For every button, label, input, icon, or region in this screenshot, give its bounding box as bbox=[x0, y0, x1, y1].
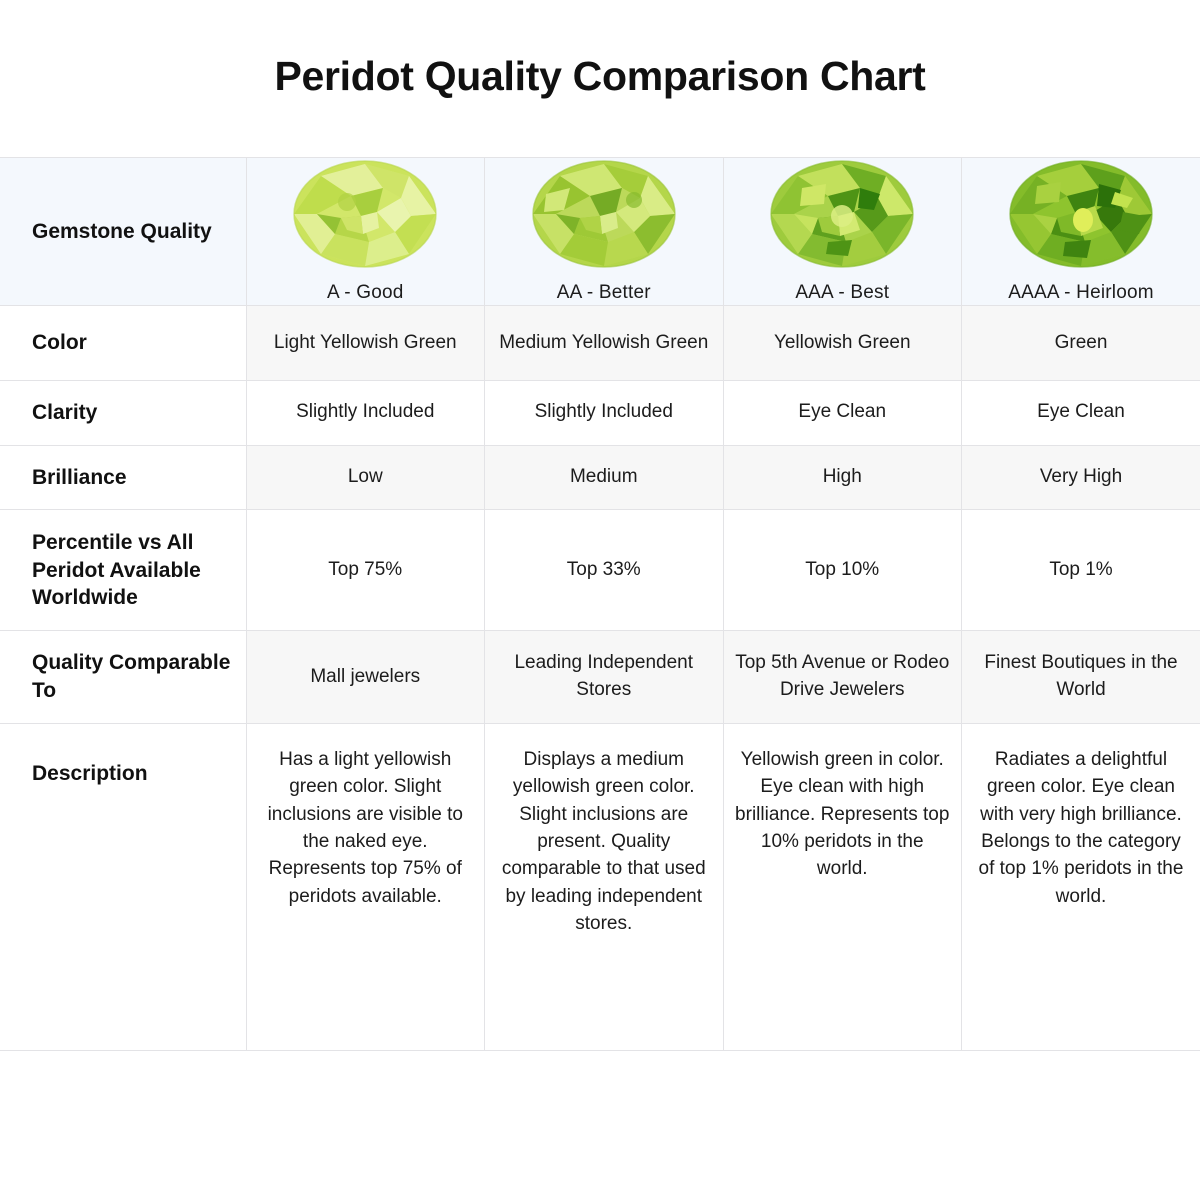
table-row: Color Light Yellowish Green Medium Yello… bbox=[0, 305, 1200, 380]
cell-comparable-2: Leading Independent Stores bbox=[485, 631, 724, 723]
cell-clarity-4: Eye Clean bbox=[962, 380, 1200, 445]
cell-description-4: Radiates a delightful green color. Eye c… bbox=[962, 723, 1200, 1050]
cell-color-2: Medium Yellowish Green bbox=[485, 305, 724, 380]
grade-label-4: AAAA - Heirloom bbox=[962, 282, 1200, 305]
row-label-cell-comparable: Quality Comparable To bbox=[0, 631, 246, 723]
cell-description-3: Yellowish green in color. Eye clean with… bbox=[723, 723, 962, 1050]
peridot-gem-aaaa-icon bbox=[1007, 158, 1155, 270]
row-label-cell-brilliance: Brilliance bbox=[0, 445, 246, 510]
header-label-cell: Gemstone Quality bbox=[0, 158, 246, 306]
grade-label-1: A - Good bbox=[247, 282, 485, 305]
row-label-color: Color bbox=[0, 311, 246, 375]
cell-description-1: Has a light yellowish green color. Sligh… bbox=[246, 723, 485, 1050]
description-text-3: Yellowish green in color. Eye clean with… bbox=[734, 746, 952, 883]
cell-clarity-1: Slightly Included bbox=[246, 380, 485, 445]
cell-brilliance-4: Very High bbox=[962, 445, 1200, 510]
comparison-chart-page: Peridot Quality Comparison Chart Gemston… bbox=[0, 0, 1200, 1200]
cell-percentile-1: Top 75% bbox=[246, 510, 485, 631]
peridot-gem-a-icon bbox=[291, 158, 439, 270]
cell-comparable-3: Top 5th Avenue or Rodeo Drive Jewelers bbox=[723, 631, 962, 723]
row-label-clarity: Clarity bbox=[0, 381, 246, 445]
table-row: Percentile vs All Peridot Available Worl… bbox=[0, 510, 1200, 631]
header-cell-grade-3: AAA - Best bbox=[723, 158, 962, 306]
table-row: Quality Comparable To Mall jewelers Lead… bbox=[0, 631, 1200, 723]
cell-description-2: Displays a medium yellowish green color.… bbox=[485, 723, 724, 1050]
header-cell-grade-1: A - Good bbox=[246, 158, 485, 306]
table-row: Brilliance Low Medium High Very High bbox=[0, 445, 1200, 510]
description-text-1: Has a light yellowish green color. Sligh… bbox=[257, 746, 475, 910]
row-label-gemstone-quality: Gemstone Quality bbox=[0, 218, 246, 246]
quality-comparison-table: Gemstone Quality bbox=[0, 157, 1200, 1051]
peridot-gem-aaa-icon bbox=[768, 158, 916, 270]
header-cell-grade-2: AA - Better bbox=[485, 158, 724, 306]
table-row: Description Has a light yellowish green … bbox=[0, 723, 1200, 1050]
peridot-gem-aa-icon bbox=[530, 158, 678, 270]
cell-clarity-3: Eye Clean bbox=[723, 380, 962, 445]
header-cell-grade-4: AAAA - Heirloom bbox=[962, 158, 1200, 306]
description-text-4: Radiates a delightful green color. Eye c… bbox=[972, 746, 1190, 910]
cell-clarity-2: Slightly Included bbox=[485, 380, 724, 445]
page-title: Peridot Quality Comparison Chart bbox=[0, 0, 1200, 101]
row-label-cell-color: Color bbox=[0, 305, 246, 380]
row-label-brilliance: Brilliance bbox=[0, 446, 246, 510]
description-text-2: Displays a medium yellowish green color.… bbox=[495, 746, 713, 938]
cell-comparable-1: Mall jewelers bbox=[246, 631, 485, 723]
cell-color-4: Green bbox=[962, 305, 1200, 380]
cell-brilliance-2: Medium bbox=[485, 445, 724, 510]
table-header-row: Gemstone Quality bbox=[0, 158, 1200, 306]
table-row: Clarity Slightly Included Slightly Inclu… bbox=[0, 380, 1200, 445]
grade-label-3: AAA - Best bbox=[724, 282, 962, 305]
row-label-cell-clarity: Clarity bbox=[0, 380, 246, 445]
grade-label-2: AA - Better bbox=[485, 282, 723, 305]
row-label-percentile: Percentile vs All Peridot Available Worl… bbox=[0, 511, 246, 630]
cell-color-3: Yellowish Green bbox=[723, 305, 962, 380]
cell-comparable-4: Finest Boutiques in the World bbox=[962, 631, 1200, 723]
row-label-quality-comparable-to: Quality Comparable To bbox=[0, 631, 246, 722]
cell-percentile-2: Top 33% bbox=[485, 510, 724, 631]
cell-percentile-3: Top 10% bbox=[723, 510, 962, 631]
row-label-cell-description: Description bbox=[0, 723, 246, 1050]
cell-color-1: Light Yellowish Green bbox=[246, 305, 485, 380]
row-label-cell-percentile: Percentile vs All Peridot Available Worl… bbox=[0, 510, 246, 631]
cell-percentile-4: Top 1% bbox=[962, 510, 1200, 631]
cell-brilliance-3: High bbox=[723, 445, 962, 510]
row-label-description: Description bbox=[0, 724, 246, 806]
cell-brilliance-1: Low bbox=[246, 445, 485, 510]
